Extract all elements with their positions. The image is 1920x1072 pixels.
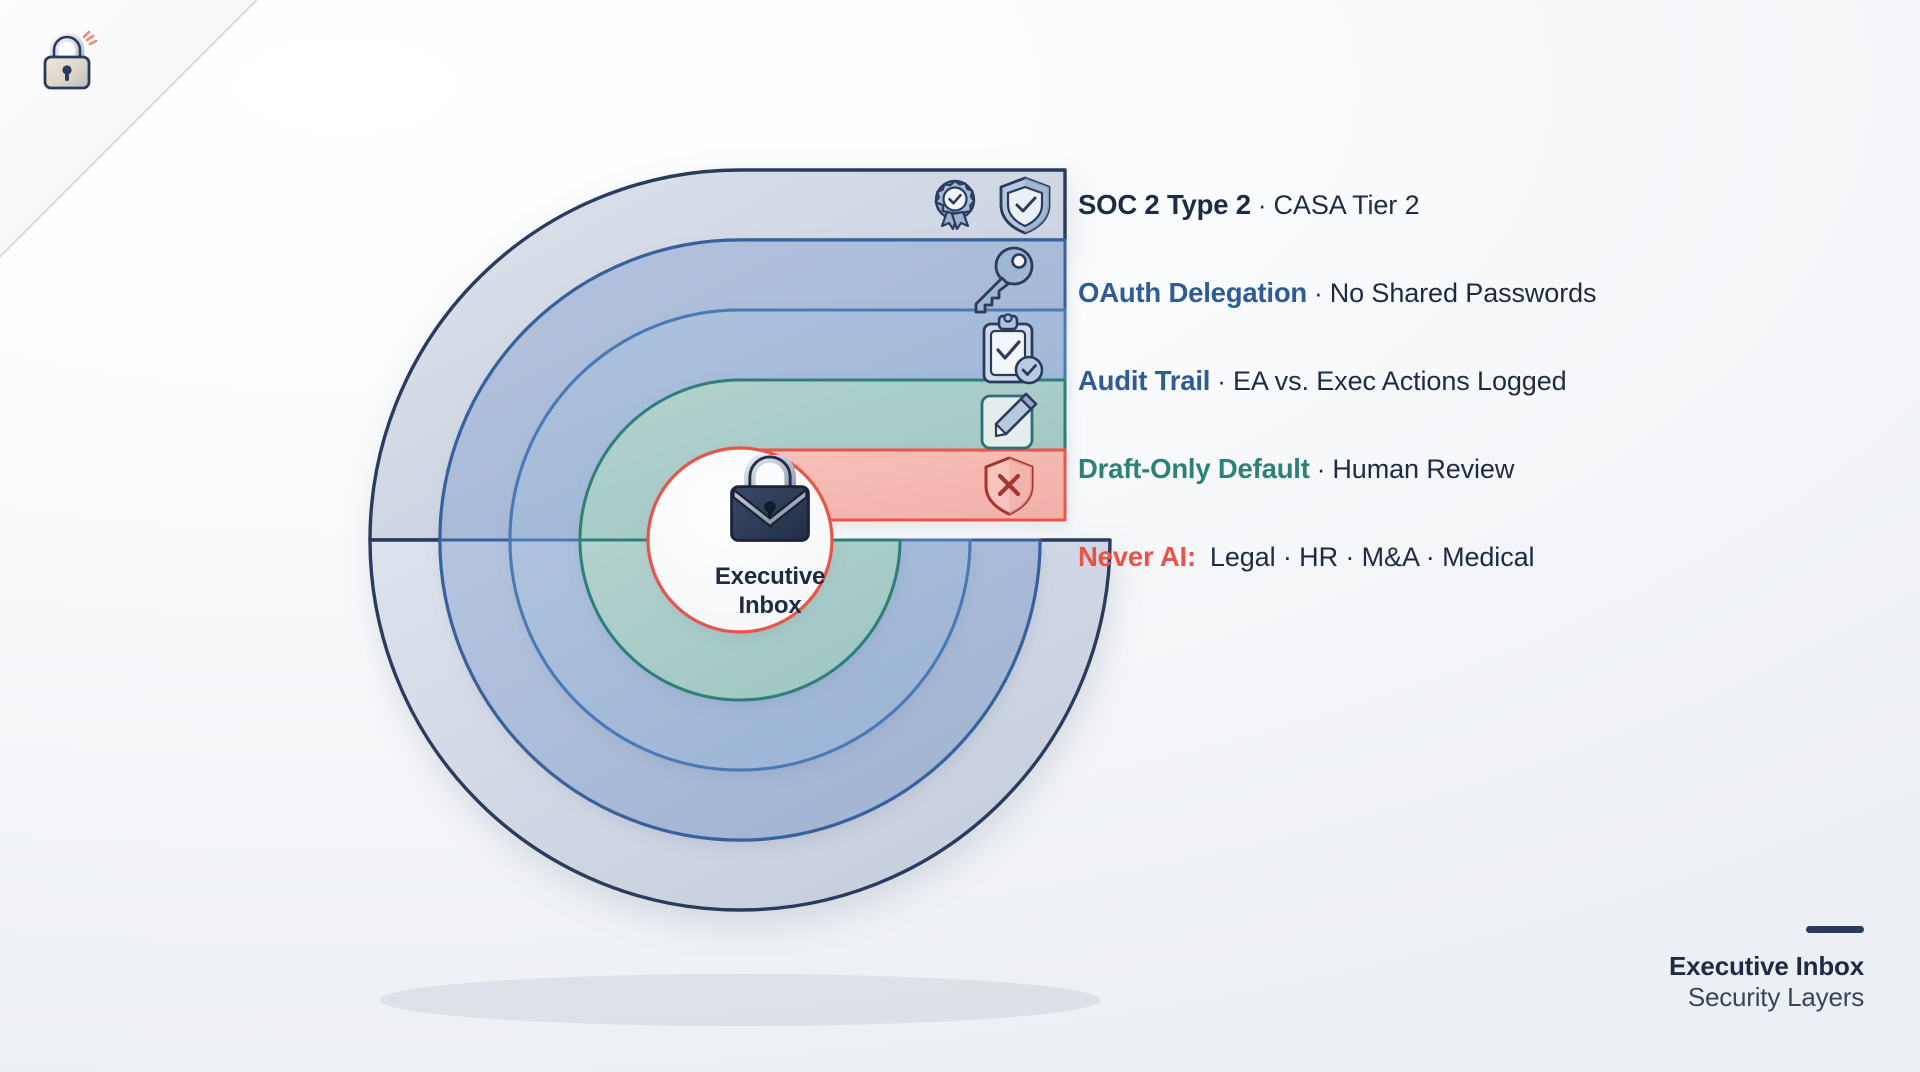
layer-strong-text: Draft-Only Default: [1078, 453, 1310, 485]
layer-rest-text: No Shared Passwords: [1330, 278, 1597, 309]
layer-separator: ·: [1310, 454, 1333, 485]
layer-separator: ·: [1251, 190, 1274, 221]
layer-strong-text: Never AI:: [1078, 541, 1196, 573]
center-node: Executive Inbox: [660, 455, 880, 645]
layer-rest-text: EA vs. Exec Actions Logged: [1233, 366, 1567, 397]
infographic-canvas: Executive Inbox SOC 2 Type 2 · CASA Tier…: [0, 0, 1920, 1072]
caption-line2: Security Layers: [1669, 982, 1864, 1014]
layer-rest-text: Human Review: [1332, 454, 1514, 485]
layer-separator: ·: [1210, 366, 1233, 397]
center-label: Executive Inbox: [715, 562, 825, 621]
center-label-line1: Executive: [715, 562, 825, 591]
layer-label-never-ai[interactable]: Never AI: Legal · HR · M&A · Medical: [1078, 537, 1534, 577]
layer-strong-text: SOC 2 Type 2: [1078, 189, 1251, 221]
layer-label-audit-trail[interactable]: Audit Trail · EA vs. Exec Actions Logged: [1078, 361, 1567, 401]
layer-separator: ·: [1307, 278, 1330, 309]
caption-line1: Executive Inbox: [1669, 951, 1864, 983]
layer-rest-text: Legal · HR · M&A · Medical: [1210, 542, 1535, 573]
layer-strong-text: OAuth Delegation: [1078, 277, 1307, 309]
layer-label-oauth[interactable]: OAuth Delegation · No Shared Passwords: [1078, 273, 1596, 313]
concentric-ring-diagram: [0, 0, 1920, 1072]
locked-envelope-icon: [718, 455, 822, 556]
center-label-line2: Inbox: [715, 591, 825, 620]
layer-strong-text: Audit Trail: [1078, 365, 1210, 397]
caption-block: Executive Inbox Security Layers: [1669, 926, 1864, 1014]
layer-label-draft-only[interactable]: Draft-Only Default · Human Review: [1078, 449, 1514, 489]
layer-label-soc2[interactable]: SOC 2 Type 2 · CASA Tier 2: [1078, 185, 1420, 225]
layer-rest-text: CASA Tier 2: [1274, 190, 1420, 221]
pencil-square-icon: [982, 394, 1036, 448]
caption-rule: [1806, 926, 1864, 933]
